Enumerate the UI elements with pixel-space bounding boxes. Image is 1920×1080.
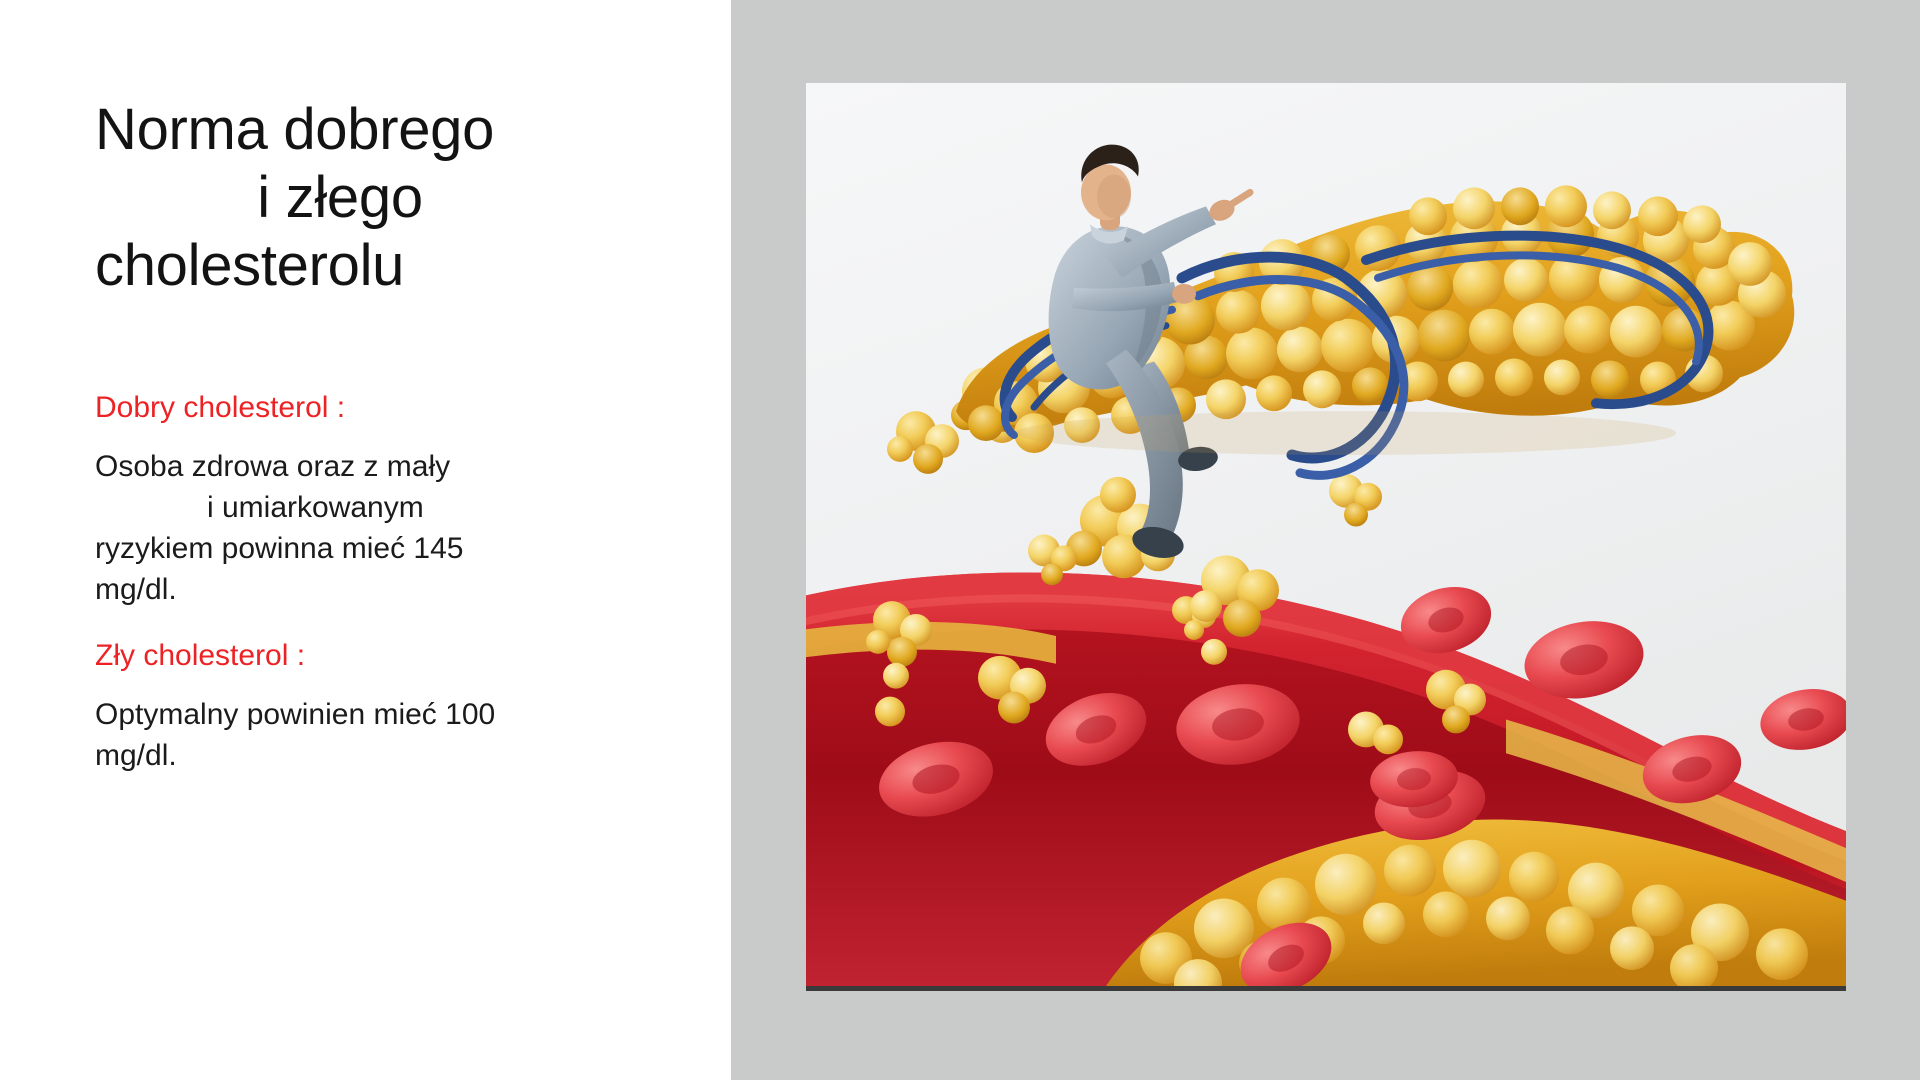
paragraph-line: mg/dl. xyxy=(95,569,555,610)
page-title: Norma dobrego i złego cholesterolu xyxy=(95,96,585,300)
paragraph-line: ryzykiem powinna mieć 145 xyxy=(95,528,555,569)
cholesterol-artery-svg xyxy=(806,83,1846,986)
image-pane xyxy=(731,0,1920,1080)
section-paragraph-good-cholesterol: Osoba zdrowa oraz z mały i umiarkowanym … xyxy=(95,446,555,610)
presentation-slide: Norma dobrego i złego cholesterolu Dobry… xyxy=(0,0,1920,1080)
body-content: Dobry cholesterol : Osoba zdrowa oraz z … xyxy=(95,388,615,802)
section-heading-good-cholesterol: Dobry cholesterol : xyxy=(95,388,615,428)
title-line-2: i złego xyxy=(95,164,585,232)
title-line-1: Norma dobrego xyxy=(95,96,585,164)
paragraph-line: Osoba zdrowa oraz z mały xyxy=(95,446,555,487)
section-heading-bad-cholesterol: Zły cholesterol : xyxy=(95,636,615,676)
paragraph-line: Optymalny powinien mieć 100 xyxy=(95,694,555,735)
paragraph-line: i umiarkowanym xyxy=(95,487,555,528)
title-line-3: cholesterolu xyxy=(95,232,585,300)
cholesterol-illustration-image xyxy=(806,83,1846,991)
paragraph-line: mg/dl. xyxy=(95,735,555,776)
section-paragraph-bad-cholesterol: Optymalny powinien mieć 100 mg/dl. xyxy=(95,694,555,776)
text-content-pane: Norma dobrego i złego cholesterolu Dobry… xyxy=(0,0,731,1080)
